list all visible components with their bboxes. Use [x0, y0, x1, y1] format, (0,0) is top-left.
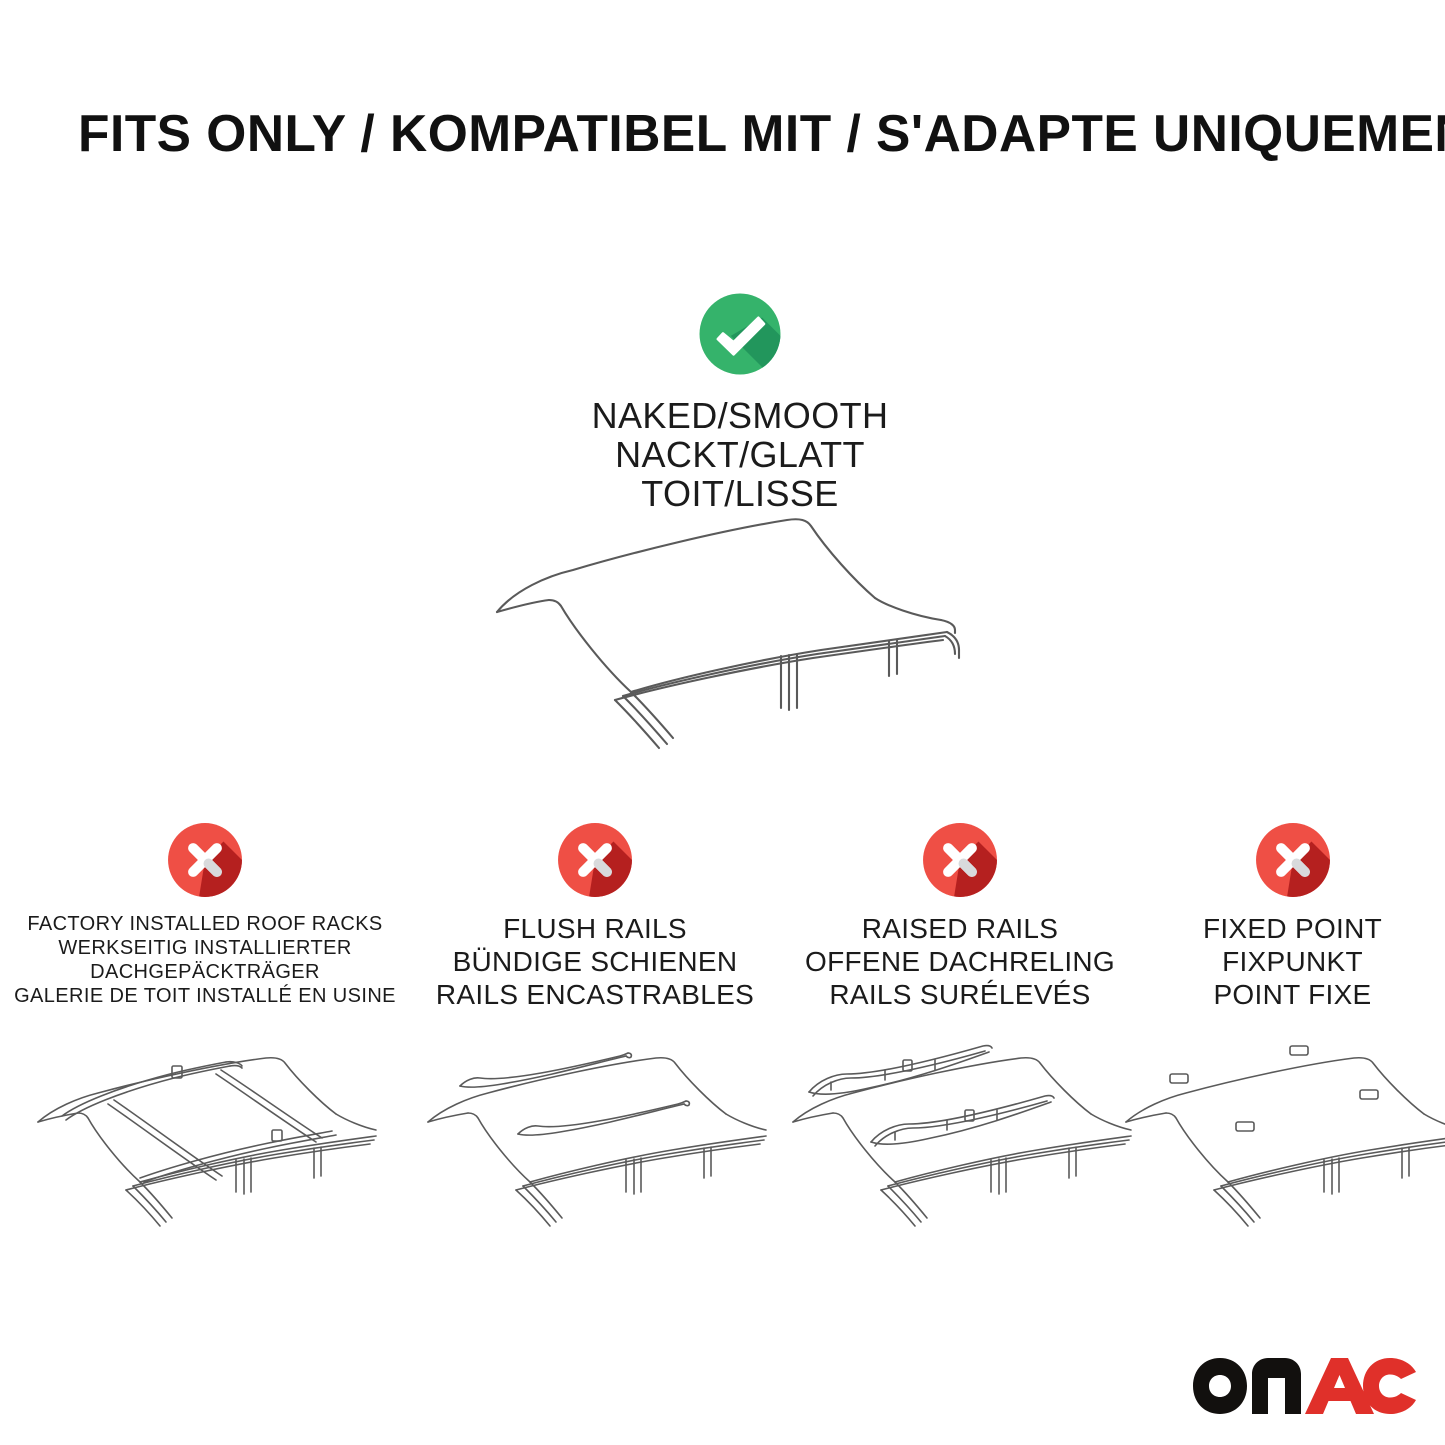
compatible-label-de: NACKT/GLATT	[430, 435, 1050, 474]
incompatible-label-line-1: FLUSH RAILS	[436, 912, 754, 945]
roof-with-fixed-points-line-drawing	[1108, 1030, 1445, 1230]
incompatible-label-line-4: GALERIE DE TOIT INSTALLÉ EN USINE	[14, 984, 396, 1008]
cross-circle-icon	[1251, 818, 1335, 902]
incompatible-label-line-1: FACTORY INSTALLED ROOF RACKS	[14, 912, 396, 936]
incompatible-labels: FACTORY INSTALLED ROOF RACKS WERKSEITIG …	[14, 912, 396, 1008]
cross-circle-icon	[553, 818, 637, 902]
logo-letter-o	[1193, 1358, 1247, 1414]
incompatible-label-line-2: WERKSEITIG INSTALLIERTER	[14, 936, 396, 960]
roof-with-flush-rails-line-drawing	[410, 1030, 780, 1230]
incompatible-item-flush-rails: FLUSH RAILS BÜNDIGE SCHIENEN RAILS ENCAS…	[410, 818, 780, 1238]
omac-logo	[1192, 1356, 1418, 1418]
incompatible-label-line-3: RAILS SURÉLEVÉS	[805, 978, 1115, 1011]
incompatible-labels: RAISED RAILS OFFENE DACHRELING RAILS SUR…	[805, 912, 1115, 1011]
roof-with-factory-rack-line-drawing	[20, 1030, 390, 1230]
bare-smooth-roof-line-drawing	[455, 490, 1015, 760]
compatible-label-en: NAKED/SMOOTH	[430, 396, 1050, 435]
incompatible-label-line-1: RAISED RAILS	[805, 912, 1115, 945]
logo-letter-m	[1252, 1358, 1301, 1414]
incompatible-section: FACTORY INSTALLED ROOF RACKS WERKSEITIG …	[0, 818, 1445, 1238]
incompatible-label-line-1: FIXED POINT	[1203, 912, 1382, 945]
logo-letter-c	[1363, 1358, 1416, 1414]
roof-with-raised-rails-line-drawing	[775, 1030, 1145, 1230]
incompatible-label-line-2: FIXPUNKT	[1203, 945, 1382, 978]
incompatible-item-factory-roof-racks: FACTORY INSTALLED ROOF RACKS WERKSEITIG …	[0, 818, 410, 1238]
incompatible-labels: FLUSH RAILS BÜNDIGE SCHIENEN RAILS ENCAS…	[436, 912, 754, 1011]
cross-circle-icon	[918, 818, 1002, 902]
incompatible-item-fixed-point: FIXED POINT FIXPUNKT POINT FIXE	[1140, 818, 1445, 1238]
incompatible-labels: FIXED POINT FIXPUNKT POINT FIXE	[1203, 912, 1382, 1011]
incompatible-label-line-2: OFFENE DACHRELING	[805, 945, 1115, 978]
check-circle-icon	[694, 288, 786, 380]
incompatible-label-line-3: DACHGEPÄCKTRÄGER	[14, 960, 396, 984]
incompatible-label-line-3: RAILS ENCASTRABLES	[436, 978, 754, 1011]
incompatible-label-line-2: BÜNDIGE SCHIENEN	[436, 945, 754, 978]
compatible-section: NAKED/SMOOTH NACKT/GLATT TOIT/LISSE	[430, 288, 1050, 513]
cross-circle-icon	[163, 818, 247, 902]
page-title: FITS ONLY / KOMPATIBEL MIT / S'ADAPTE UN…	[78, 104, 1365, 166]
incompatible-item-raised-rails: RAISED RAILS OFFENE DACHRELING RAILS SUR…	[780, 818, 1140, 1238]
incompatible-label-line-3: POINT FIXE	[1203, 978, 1382, 1011]
